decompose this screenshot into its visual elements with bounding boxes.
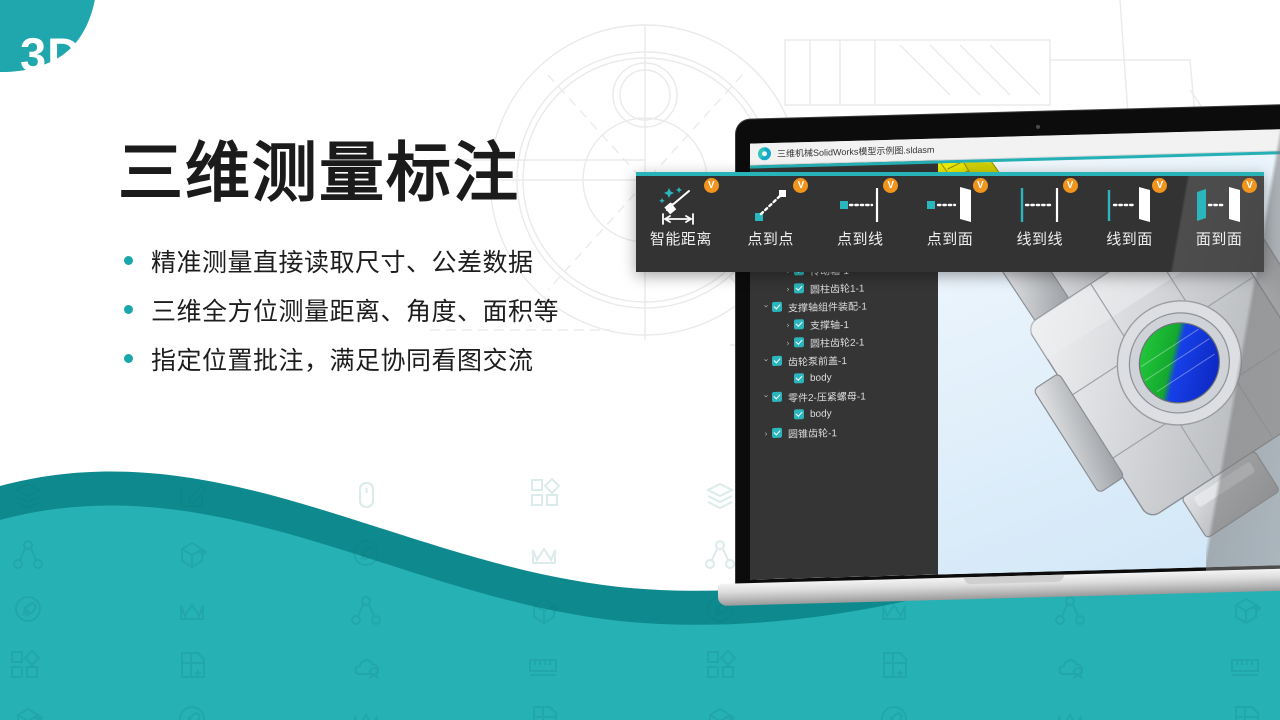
tree-item-label: body [810, 408, 832, 420]
chevron-down-icon[interactable] [760, 357, 772, 366]
point-to-point-icon [743, 184, 799, 226]
three-d-badge-label: 3D [20, 25, 110, 85]
tree-item-label: 支撑轴-1 [810, 315, 849, 331]
toolbar-item-label: 面到面 [1196, 228, 1243, 249]
chevron-right-icon[interactable] [782, 338, 794, 347]
tree-row[interactable]: 圆锥齿轮-1 [750, 420, 938, 443]
chevron-down-icon[interactable] [760, 393, 772, 402]
toolbar-item-label: 点到点 [747, 228, 794, 249]
toolbar-item-line-to-face[interactable]: 线到面V [1085, 176, 1175, 272]
measure-toolbar[interactable]: 智能距离V点到点V点到线V点到面V线到线V线到面V面到面V [636, 172, 1264, 272]
visibility-checkbox[interactable] [794, 319, 804, 329]
chevron-right-icon[interactable] [760, 429, 772, 438]
bullet-dot-icon [124, 256, 133, 265]
toolbar-item-magic-wand-measure[interactable]: 智能距离V [636, 176, 726, 272]
visibility-checkbox[interactable] [772, 356, 782, 366]
visibility-checkbox[interactable] [772, 428, 782, 438]
visibility-checkbox[interactable] [794, 373, 804, 383]
toolbar-item-label: 线到面 [1106, 228, 1153, 249]
toolbar-item-label: 智能距离 [650, 228, 712, 249]
toolbar-item-point-to-line[interactable]: 点到线V [815, 176, 905, 272]
promo-banner: 3D 三维测量标注 精准测量直接读取尺寸、公差数据 三维全方位测量距离、角度、面… [0, 0, 1280, 720]
feature-text: 三维全方位测量距离、角度、面积等 [151, 292, 559, 328]
vip-badge: V [1063, 178, 1078, 193]
visibility-checkbox[interactable] [772, 392, 782, 402]
page-title: 三维测量标注 [118, 120, 520, 214]
list-item: 指定位置批注，满足协同看图交流 [124, 334, 559, 383]
feature-text: 精准测量直接读取尺寸、公差数据 [151, 243, 534, 279]
app-file-title: 三维机械SolidWorks模型示例图.sldasm [777, 143, 934, 160]
list-item: 精准测量直接读取尺寸、公差数据 [124, 236, 559, 285]
toolbar-item-face-to-face[interactable]: 面到面V [1174, 176, 1264, 272]
face-to-face-icon [1191, 184, 1247, 226]
bullet-dot-icon [124, 354, 133, 363]
toolbar-item-label: 线到线 [1016, 228, 1063, 249]
toolbar-item-line-to-line[interactable]: 线到线V [995, 176, 1085, 272]
line-to-face-icon [1101, 184, 1157, 226]
toolbar-item-label: 点到面 [927, 228, 974, 249]
toolbar-item-point-to-face[interactable]: 点到面V [905, 176, 995, 272]
point-to-face-icon [922, 184, 978, 226]
chevron-right-icon[interactable] [782, 284, 794, 293]
vip-badge: V [883, 178, 898, 193]
vip-badge: V [793, 178, 808, 193]
tree-item-label: 齿轮泵前盖-1 [788, 351, 847, 368]
vip-badge: V [704, 178, 719, 193]
vip-badge: V [973, 178, 988, 193]
toolbar-item-point-to-point[interactable]: 点到点V [726, 176, 816, 272]
tree-item-label: 圆锥齿轮-1 [788, 424, 837, 440]
vip-badge: V [1152, 178, 1167, 193]
feature-text: 指定位置批注，满足协同看图交流 [151, 341, 534, 377]
visibility-checkbox[interactable] [794, 283, 804, 293]
tree-item-label: 圆柱齿轮1-1 [810, 279, 864, 295]
chevron-right-icon[interactable] [782, 320, 794, 329]
visibility-checkbox[interactable] [772, 302, 782, 312]
tree-item-label: 圆柱齿轮2-1 [810, 333, 864, 349]
laptop-base-notch [964, 575, 1064, 585]
magic-wand-measure-icon [653, 184, 709, 226]
point-to-line-icon [832, 184, 888, 226]
bullet-dot-icon [124, 305, 133, 314]
toolbar-item-label: 点到线 [837, 228, 884, 249]
feature-list: 精准测量直接读取尺寸、公差数据 三维全方位测量距离、角度、面积等 指定位置批注，… [124, 236, 559, 383]
app-logo-icon [758, 147, 771, 160]
tree-item-label: 支撑轴组件装配-1 [788, 297, 867, 314]
visibility-checkbox[interactable] [794, 409, 804, 419]
list-item: 三维全方位测量距离、角度、面积等 [124, 285, 559, 334]
visibility-checkbox[interactable] [794, 337, 804, 347]
line-to-line-icon [1012, 184, 1068, 226]
tree-item-label: body [810, 372, 832, 384]
webcam-icon [1036, 125, 1040, 129]
vip-badge: V [1242, 178, 1257, 193]
chevron-down-icon[interactable] [760, 303, 772, 312]
tree-item-label: 零件2-压紧螺母-1 [788, 387, 866, 404]
